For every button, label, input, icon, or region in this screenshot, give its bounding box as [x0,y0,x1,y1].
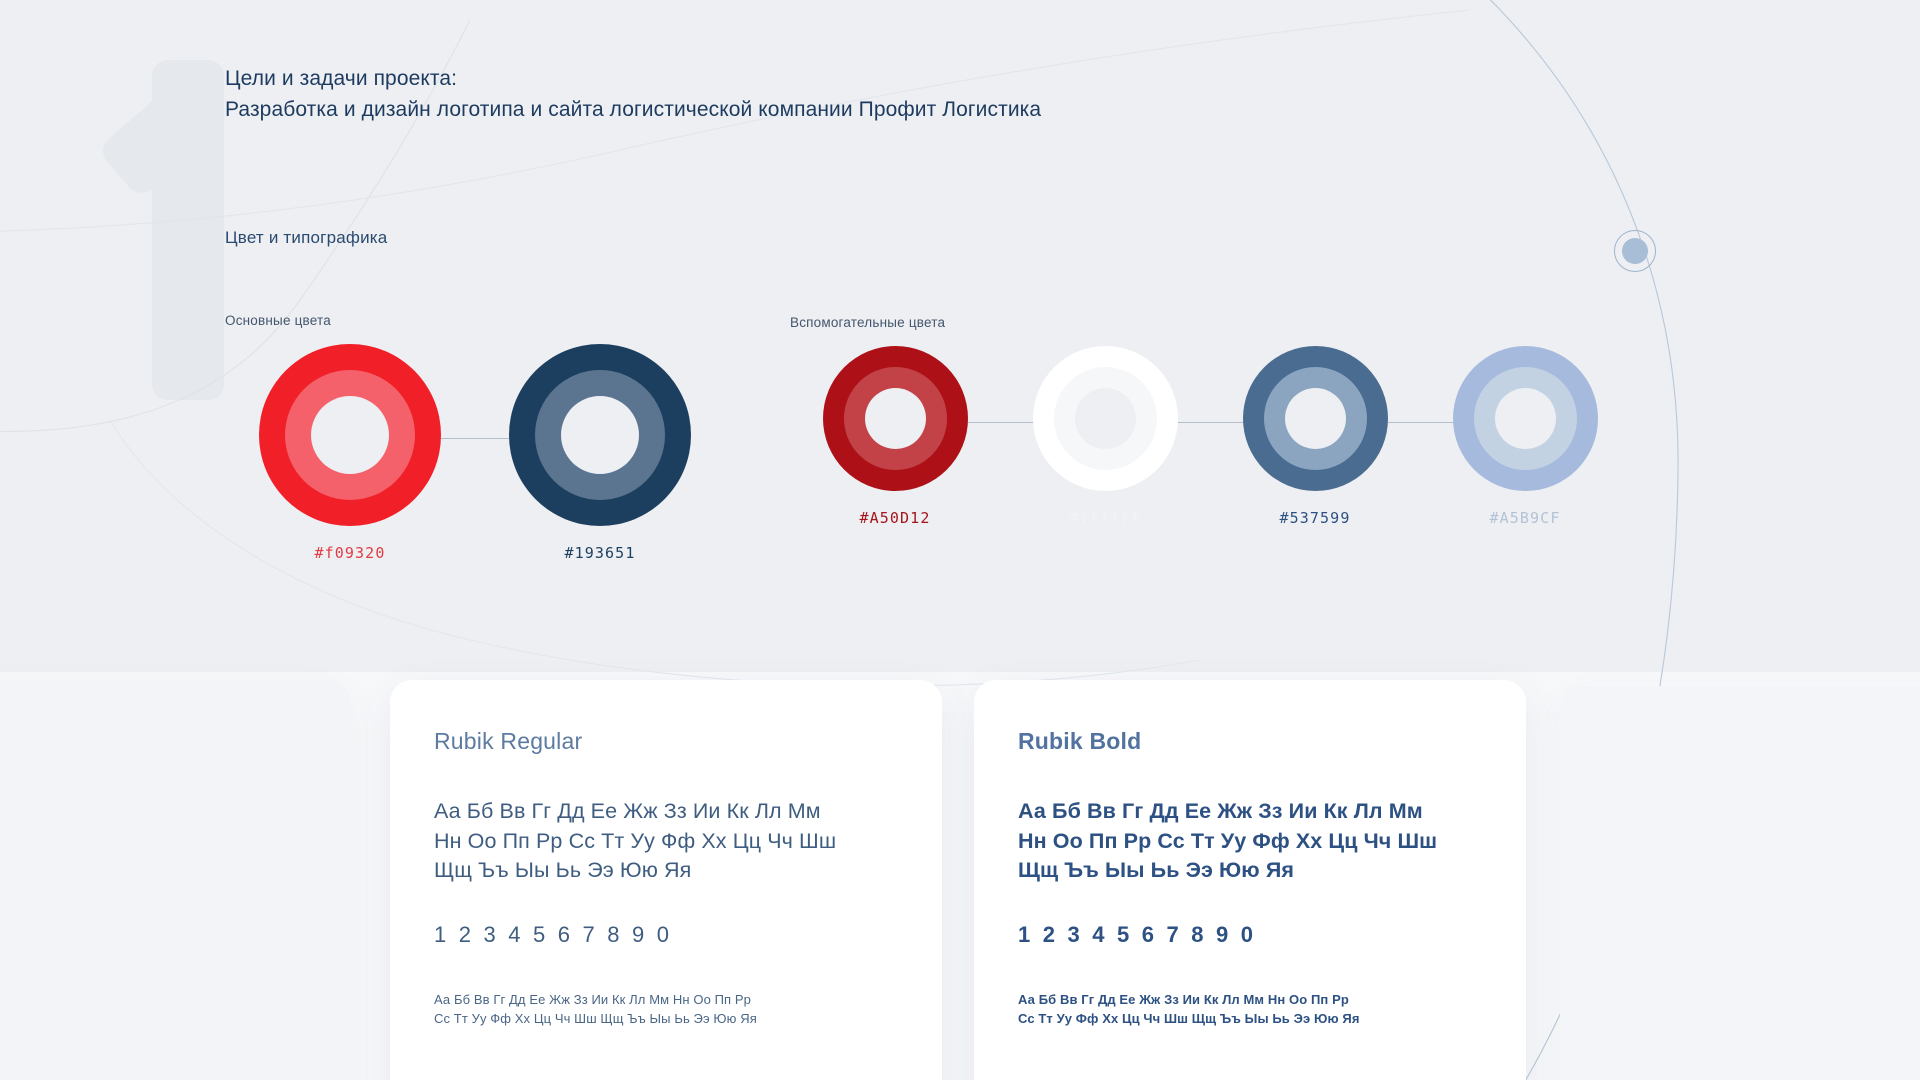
page-title-line-2: Разработка и дизайн логотипа и сайта лог… [225,94,1425,125]
section-label: Цвет и типографика [225,228,387,248]
color-swatch[interactable]: #A50D12 [790,346,1000,527]
typography-card-partial-left [0,680,350,1080]
font-name-label: Rubik Bold [1018,728,1482,755]
color-hex-label: #193651 [475,544,725,562]
slide-canvas: Цели и задачи проекта: Разработка и диза… [0,0,1920,1080]
color-ring-hole [1285,388,1346,449]
alphabet-large-line: Аа Бб Вв Гг Дд Ее Жж Зз Ии Кк Лл Мм [434,797,898,827]
color-ring-hole [1495,388,1556,449]
page-title: Цели и задачи проекта: Разработка и диза… [225,63,1425,125]
color-hex-label: #537599 [1210,509,1420,527]
font-name-label: Rubik Regular [434,728,898,755]
color-ring-outer [509,344,691,526]
alphabet-large-line: Щщ Ъъ Ыы Ьь Ээ Юю Яя [1018,856,1482,886]
color-hex-label: #ffffff [1000,509,1210,527]
alphabet-large-line: Нн Оо Пп Рр Сс Тт Уу Фф Хх Цц Чч Шш [1018,827,1482,857]
color-ring-outer [1033,346,1178,491]
color-ring-outer [259,344,441,526]
color-ring-outer [823,346,968,491]
typography-card-partial-right [1560,686,1920,1080]
palette-group-primary: Основные цвета #f09320 #193651 [225,313,725,562]
page-title-line-1: Цели и задачи проекта: [225,63,1425,94]
alphabet-small-line: Сс Тт Уу Фф Хх Цц Чч Шш Щщ Ъъ Ыы Ьь Ээ Ю… [1018,1009,1482,1028]
curve-node-dot-icon [1614,230,1656,272]
alphabet-small: Аа Бб Вв Гг Дд Ее Жж Зз Ии Кк Лл Мм Нн О… [1018,990,1482,1028]
palette-group-secondary: Вспомогательные цвета #A50D12 #ffffff [790,315,1630,527]
numerals-sample: 1 2 3 4 5 6 7 8 9 0 [434,922,898,948]
color-ring-outer [1453,346,1598,491]
numerals-sample: 1 2 3 4 5 6 7 8 9 0 [1018,922,1482,948]
color-swatch[interactable]: #193651 [475,344,725,562]
typography-card-regular[interactable]: Rubik Regular Аа Бб Вв Гг Дд Ее Жж Зз Ии… [390,680,942,1080]
alphabet-small: Аа Бб Вв Гг Дд Ее Жж Зз Ии Кк Лл Мм Нн О… [434,990,898,1028]
swatch-row: #f09320 #193651 [225,344,725,562]
color-ring-hole [1075,388,1136,449]
color-swatch[interactable]: #A5B9CF [1420,346,1630,527]
color-ring-hole [561,396,639,474]
alphabet-large: Аа Бб Вв Гг Дд Ее Жж Зз Ии Кк Лл Мм Нн О… [434,797,898,886]
color-ring-hole [311,396,389,474]
color-hex-label: #A50D12 [790,509,1000,527]
color-swatch[interactable]: #ffffff [1000,346,1210,527]
watermark-one-stem [152,60,224,400]
alphabet-large-line: Аа Бб Вв Гг Дд Ее Жж Зз Ии Кк Лл Мм [1018,797,1482,827]
watermark-one-flag [97,74,227,199]
alphabet-small-line: Аа Бб Вв Гг Дд Ее Жж Зз Ии Кк Лл Мм Нн О… [1018,990,1482,1009]
color-hex-label: #A5B9CF [1420,509,1630,527]
alphabet-large-line: Нн Оо Пп Рр Сс Тт Уу Фф Хх Цц Чч Шш [434,827,898,857]
palette-title: Основные цвета [225,313,725,328]
color-ring-hole [865,388,926,449]
alphabet-small-line: Сс Тт Уу Фф Хх Цц Чч Шш Щщ Ъъ Ыы Ьь Ээ Ю… [434,1009,898,1028]
alphabet-large-line: Щщ Ъъ Ыы Ьь Ээ Юю Яя [434,856,898,886]
alphabet-large: Аа Бб Вв Гг Дд Ее Жж Зз Ии Кк Лл Мм Нн О… [1018,797,1482,886]
typography-card-bold[interactable]: Rubik Bold Аа Бб Вв Гг Дд Ее Жж Зз Ии Кк… [974,680,1526,1080]
palette-title: Вспомогательные цвета [790,315,1630,330]
color-swatch[interactable]: #537599 [1210,346,1420,527]
color-swatch[interactable]: #f09320 [225,344,475,562]
color-hex-label: #f09320 [225,544,475,562]
alphabet-small-line: Аа Бб Вв Гг Дд Ее Жж Зз Ии Кк Лл Мм Нн О… [434,990,898,1009]
color-ring-outer [1243,346,1388,491]
swatch-row: #A50D12 #ffffff #537599 [790,346,1630,527]
